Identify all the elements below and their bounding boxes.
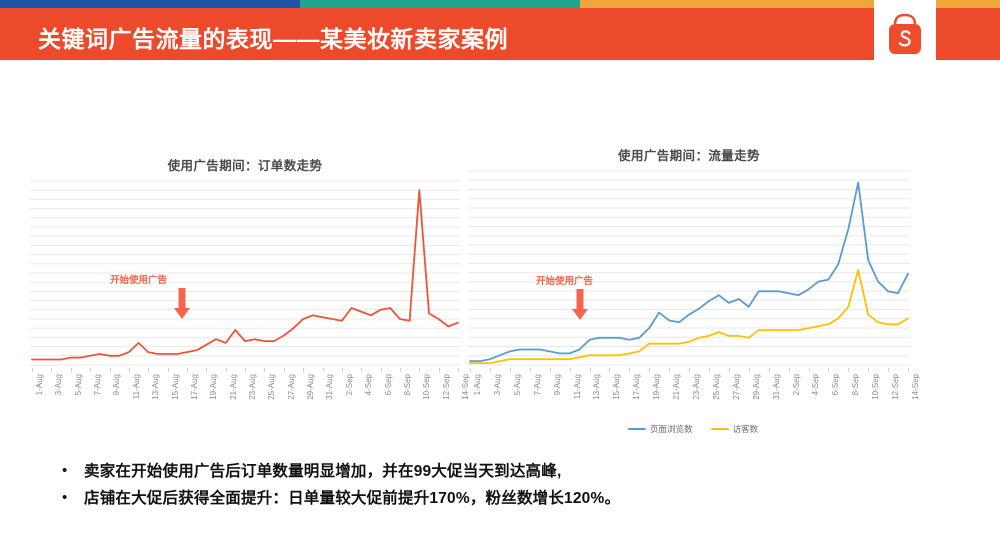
x-axis-tick-label: 8-Sep [851,374,860,395]
bullet-marker: • [62,488,84,508]
shopee-logo-icon [884,13,926,57]
chart-left-annotation-label: 开始使用广告 [110,272,167,286]
x-axis-tick-label: 15-Aug [171,374,180,400]
x-axis-tick-label: 3-Aug [493,374,502,395]
x-axis-tick-label: 13-Aug [592,374,601,400]
x-axis-tick-mark [148,368,149,372]
x-axis-tick-label: 2-Sep [792,374,801,395]
x-axis-tick-mark [342,368,343,372]
bullet-text: 卖家在开始使用广告后订单数量明显增加，并在99大促当天到达高峰, [84,461,561,482]
chart-right-annotation-arrow-icon [571,289,589,326]
x-axis-tick-label: 17-Aug [190,374,199,400]
x-axis-tick-label: 13-Aug [151,374,160,400]
chart-orders-trend: 使用广告期间：订单数走势 开始使用广告 [30,155,460,371]
legend-label: 页面浏览数 [650,423,693,435]
x-axis-tick-label: 9-Aug [112,374,121,395]
accent-stripe-blue [0,0,300,8]
x-axis-tick-mark [110,368,111,372]
accent-stripe-teal [300,0,580,8]
x-axis-tick-mark [226,368,227,372]
x-axis-tick-label: 29-Aug [306,374,315,400]
bullet-text: 店铺在大促后获得全面提升：日单量较大促前提升170%，粉丝数增长120%。 [84,488,620,509]
legend-item[interactable]: 访客数 [711,423,759,435]
legend-label: 访客数 [733,423,759,435]
x-axis-tick-mark [129,368,130,372]
x-axis-tick-mark [629,368,630,372]
x-axis-tick-mark [510,368,511,372]
x-axis-tick-label: 27-Aug [732,374,741,400]
x-axis-tick-mark [206,368,207,372]
chart-right-legend: 页面浏览数访客数 [628,423,758,435]
x-axis-tick-mark [848,368,849,372]
x-axis-tick-label: 29-Aug [752,374,761,400]
accent-stripe-orange [580,0,1000,8]
accent-stripe-row [0,0,1000,8]
x-axis-tick-label: 11-Aug [573,374,582,399]
chart-right-title: 使用广告期间：流量走势 [468,145,910,164]
x-axis-tick-label: 12-Sep [891,374,900,400]
x-axis-tick-label: 25-Aug [712,374,721,400]
chart-traffic-trend: 使用广告期间：流量走势 开始使用广告 [468,145,910,371]
x-axis-tick-label: 4-Sep [811,374,820,395]
legend-swatch-icon [711,428,729,430]
x-axis-tick-label: 10-Sep [871,374,880,400]
x-axis-tick-mark [245,368,246,372]
x-axis-tick-label: 21-Aug [672,374,681,400]
x-axis-tick-mark [284,368,285,372]
x-axis-tick-mark [749,368,750,372]
x-axis-tick-mark [51,368,52,372]
x-axis-tick-label: 6-Sep [384,374,393,395]
x-axis-tick-mark [570,368,571,372]
x-axis-tick-mark [769,368,770,372]
x-axis-tick-mark [381,368,382,372]
x-axis-tick-label: 31-Aug [325,374,334,400]
x-axis-tick-mark [439,368,440,372]
x-axis-tick-mark [264,368,265,372]
page-title: 关键词广告流量的表现——某美妆新卖家案例 [38,20,508,54]
x-axis-tick-label: 4-Sep [364,374,373,395]
x-axis-tick-label: 7-Aug [93,374,102,395]
x-axis-tick-label: 23-Aug [248,374,257,400]
x-axis-tick-label: 23-Aug [692,374,701,400]
x-axis-tick-mark [908,368,909,372]
x-axis-tick-mark [168,368,169,372]
chart-left-x-axis-labels: 1-Aug3-Aug5-Aug7-Aug9-Aug11-Aug13-Aug15-… [30,372,460,416]
x-axis-tick-label: 25-Aug [267,374,276,400]
chart-right-x-axis-labels: 1-Aug3-Aug5-Aug7-Aug9-Aug11-Aug13-Aug15-… [468,372,910,416]
chart-right-plot-area [468,169,910,367]
x-axis-tick-mark [669,368,670,372]
bullet-item: •卖家在开始使用广告后订单数量明显增加，并在99大促当天到达高峰, [62,461,942,482]
slide: 关键词广告流量的表现——某美妆新卖家案例 使用广告期间：订单数走势 开始使用广告… [0,0,1000,547]
x-axis-tick-mark [530,368,531,372]
chart-left-plot-area [30,179,460,367]
x-axis-tick-label: 6-Sep [831,374,840,395]
x-axis-tick-label: 9-Aug [553,374,562,395]
x-axis-tick-label: 14-Sep [911,374,920,400]
x-axis-tick-label: 2-Sep [345,374,354,395]
x-axis-tick-mark [789,368,790,372]
x-axis-tick-mark [71,368,72,372]
x-axis-tick-label: 5-Aug [74,374,83,395]
chart-right-annotation-label: 开始使用广告 [536,273,593,287]
x-axis-tick-mark [361,368,362,372]
x-axis-tick-mark [649,368,650,372]
x-axis-tick-mark [809,368,810,372]
x-axis-tick-label: 11-Aug [132,374,141,399]
bullet-item: •店铺在大促后获得全面提升：日单量较大促前提升170%，粉丝数增长120%。 [62,488,942,509]
x-axis-tick-label: 1-Aug [35,374,44,395]
x-axis-tick-label: 1-Aug [473,374,482,395]
legend-swatch-icon [628,428,646,430]
x-axis-tick-label: 5-Aug [513,374,522,395]
x-axis-tick-label: 3-Aug [54,374,63,395]
x-axis-tick-mark [828,368,829,372]
legend-item[interactable]: 页面浏览数 [628,423,693,435]
x-axis-tick-mark [609,368,610,372]
x-axis-tick-label: 15-Aug [612,374,621,400]
x-axis-tick-mark [470,368,471,372]
x-axis-tick-mark [490,368,491,372]
x-axis-tick-mark [590,368,591,372]
x-axis-tick-label: 19-Aug [209,374,218,400]
x-axis-tick-label: 31-Aug [772,374,781,400]
x-axis-tick-label: 12-Sep [442,374,451,400]
x-axis-tick-mark [32,368,33,372]
x-axis-tick-mark [303,368,304,372]
summary-bullets: •卖家在开始使用广告后订单数量明显增加，并在99大促当天到达高峰,•店铺在大促后… [62,461,942,515]
x-axis-tick-mark [458,368,459,372]
x-axis-tick-label: 19-Aug [652,374,661,400]
x-axis-tick-mark [689,368,690,372]
x-axis-tick-label: 27-Aug [287,374,296,400]
x-axis-tick-mark [419,368,420,372]
x-axis-tick-label: 10-Sep [422,374,431,400]
x-axis-tick-mark [400,368,401,372]
chart-left-title: 使用广告期间：订单数走势 [30,155,460,174]
x-axis-tick-mark [90,368,91,372]
x-axis-tick-label: 17-Aug [632,374,641,400]
chart-left-annotation-arrow-icon [173,288,191,325]
x-axis-tick-mark [550,368,551,372]
x-axis-tick-mark [729,368,730,372]
x-axis-tick-label: 7-Aug [533,374,542,395]
x-axis-tick-mark [187,368,188,372]
x-axis-tick-mark [868,368,869,372]
x-axis-tick-mark [709,368,710,372]
x-axis-tick-mark [888,368,889,372]
bullet-marker: • [62,461,84,481]
x-axis-tick-mark [323,368,324,372]
x-axis-tick-label: 21-Aug [229,374,238,400]
x-axis-tick-label: 8-Sep [403,374,412,395]
